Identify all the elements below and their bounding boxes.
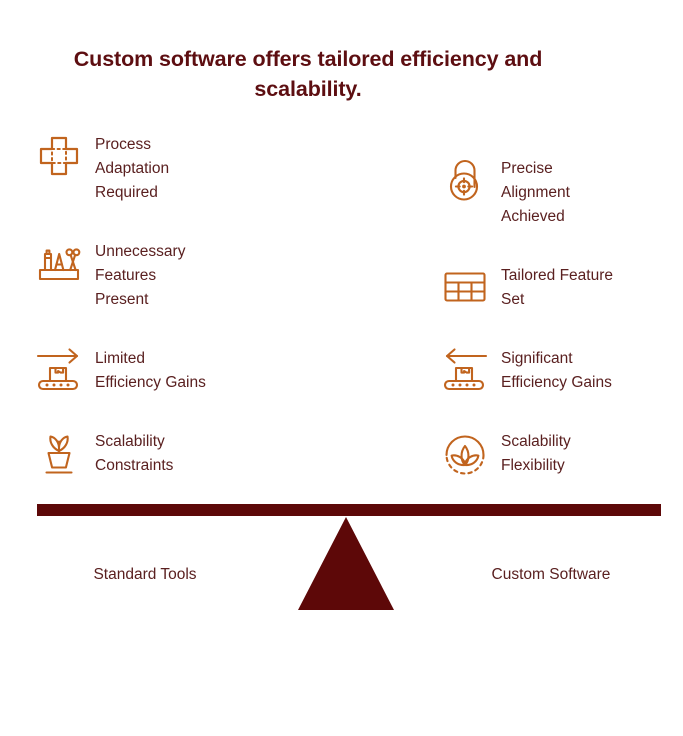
list-item-label: Precise Alignment Achieved bbox=[491, 154, 570, 230]
list-item-precise-alignment: Precise Alignment Achieved bbox=[439, 154, 570, 230]
table-grid-icon bbox=[439, 261, 491, 313]
conveyor-left-arrow-icon bbox=[439, 344, 491, 396]
list-item-tailored-feature-set: Tailored Feature Set bbox=[439, 261, 613, 313]
list-item-label: Significant Efficiency Gains bbox=[491, 344, 612, 395]
padlock-target-icon bbox=[439, 154, 491, 206]
list-item-scalability-flexibility: Scalability Flexibility bbox=[439, 427, 571, 479]
list-item-label: Tailored Feature Set bbox=[491, 261, 613, 312]
list-item-label: Scalability Flexibility bbox=[491, 427, 571, 478]
list-item-label: Unnecessary Features Present bbox=[85, 237, 185, 313]
list-item-significant-efficiency: Significant Efficiency Gains bbox=[439, 344, 612, 396]
process-adaptation-icon bbox=[33, 130, 85, 182]
potted-plant-icon bbox=[33, 427, 85, 479]
leaf-circle-icon bbox=[439, 427, 491, 479]
list-item-label: Process Adaptation Required bbox=[85, 130, 169, 206]
list-item-label: Limited Efficiency Gains bbox=[85, 344, 206, 395]
balance-label-right: Custom Software bbox=[446, 564, 656, 586]
conveyor-right-arrow-icon bbox=[33, 344, 85, 396]
page-title: Custom software offers tailored efficien… bbox=[30, 44, 586, 104]
balance-fulcrum-triangle bbox=[298, 517, 394, 610]
balance-label-left: Standard Tools bbox=[40, 564, 250, 586]
list-item-scalability-constraints: Scalability Constraints bbox=[33, 427, 173, 479]
list-item-unnecessary-features: Unnecessary Features Present bbox=[33, 237, 185, 313]
list-item-label: Scalability Constraints bbox=[85, 427, 173, 478]
toolbox-tools-icon bbox=[33, 237, 85, 289]
list-item-limited-efficiency: Limited Efficiency Gains bbox=[33, 344, 206, 396]
list-item-process-adaptation: Process Adaptation Required bbox=[33, 130, 169, 206]
balance-beam bbox=[37, 504, 661, 516]
infographic-canvas: Custom software offers tailored efficien… bbox=[0, 0, 683, 736]
